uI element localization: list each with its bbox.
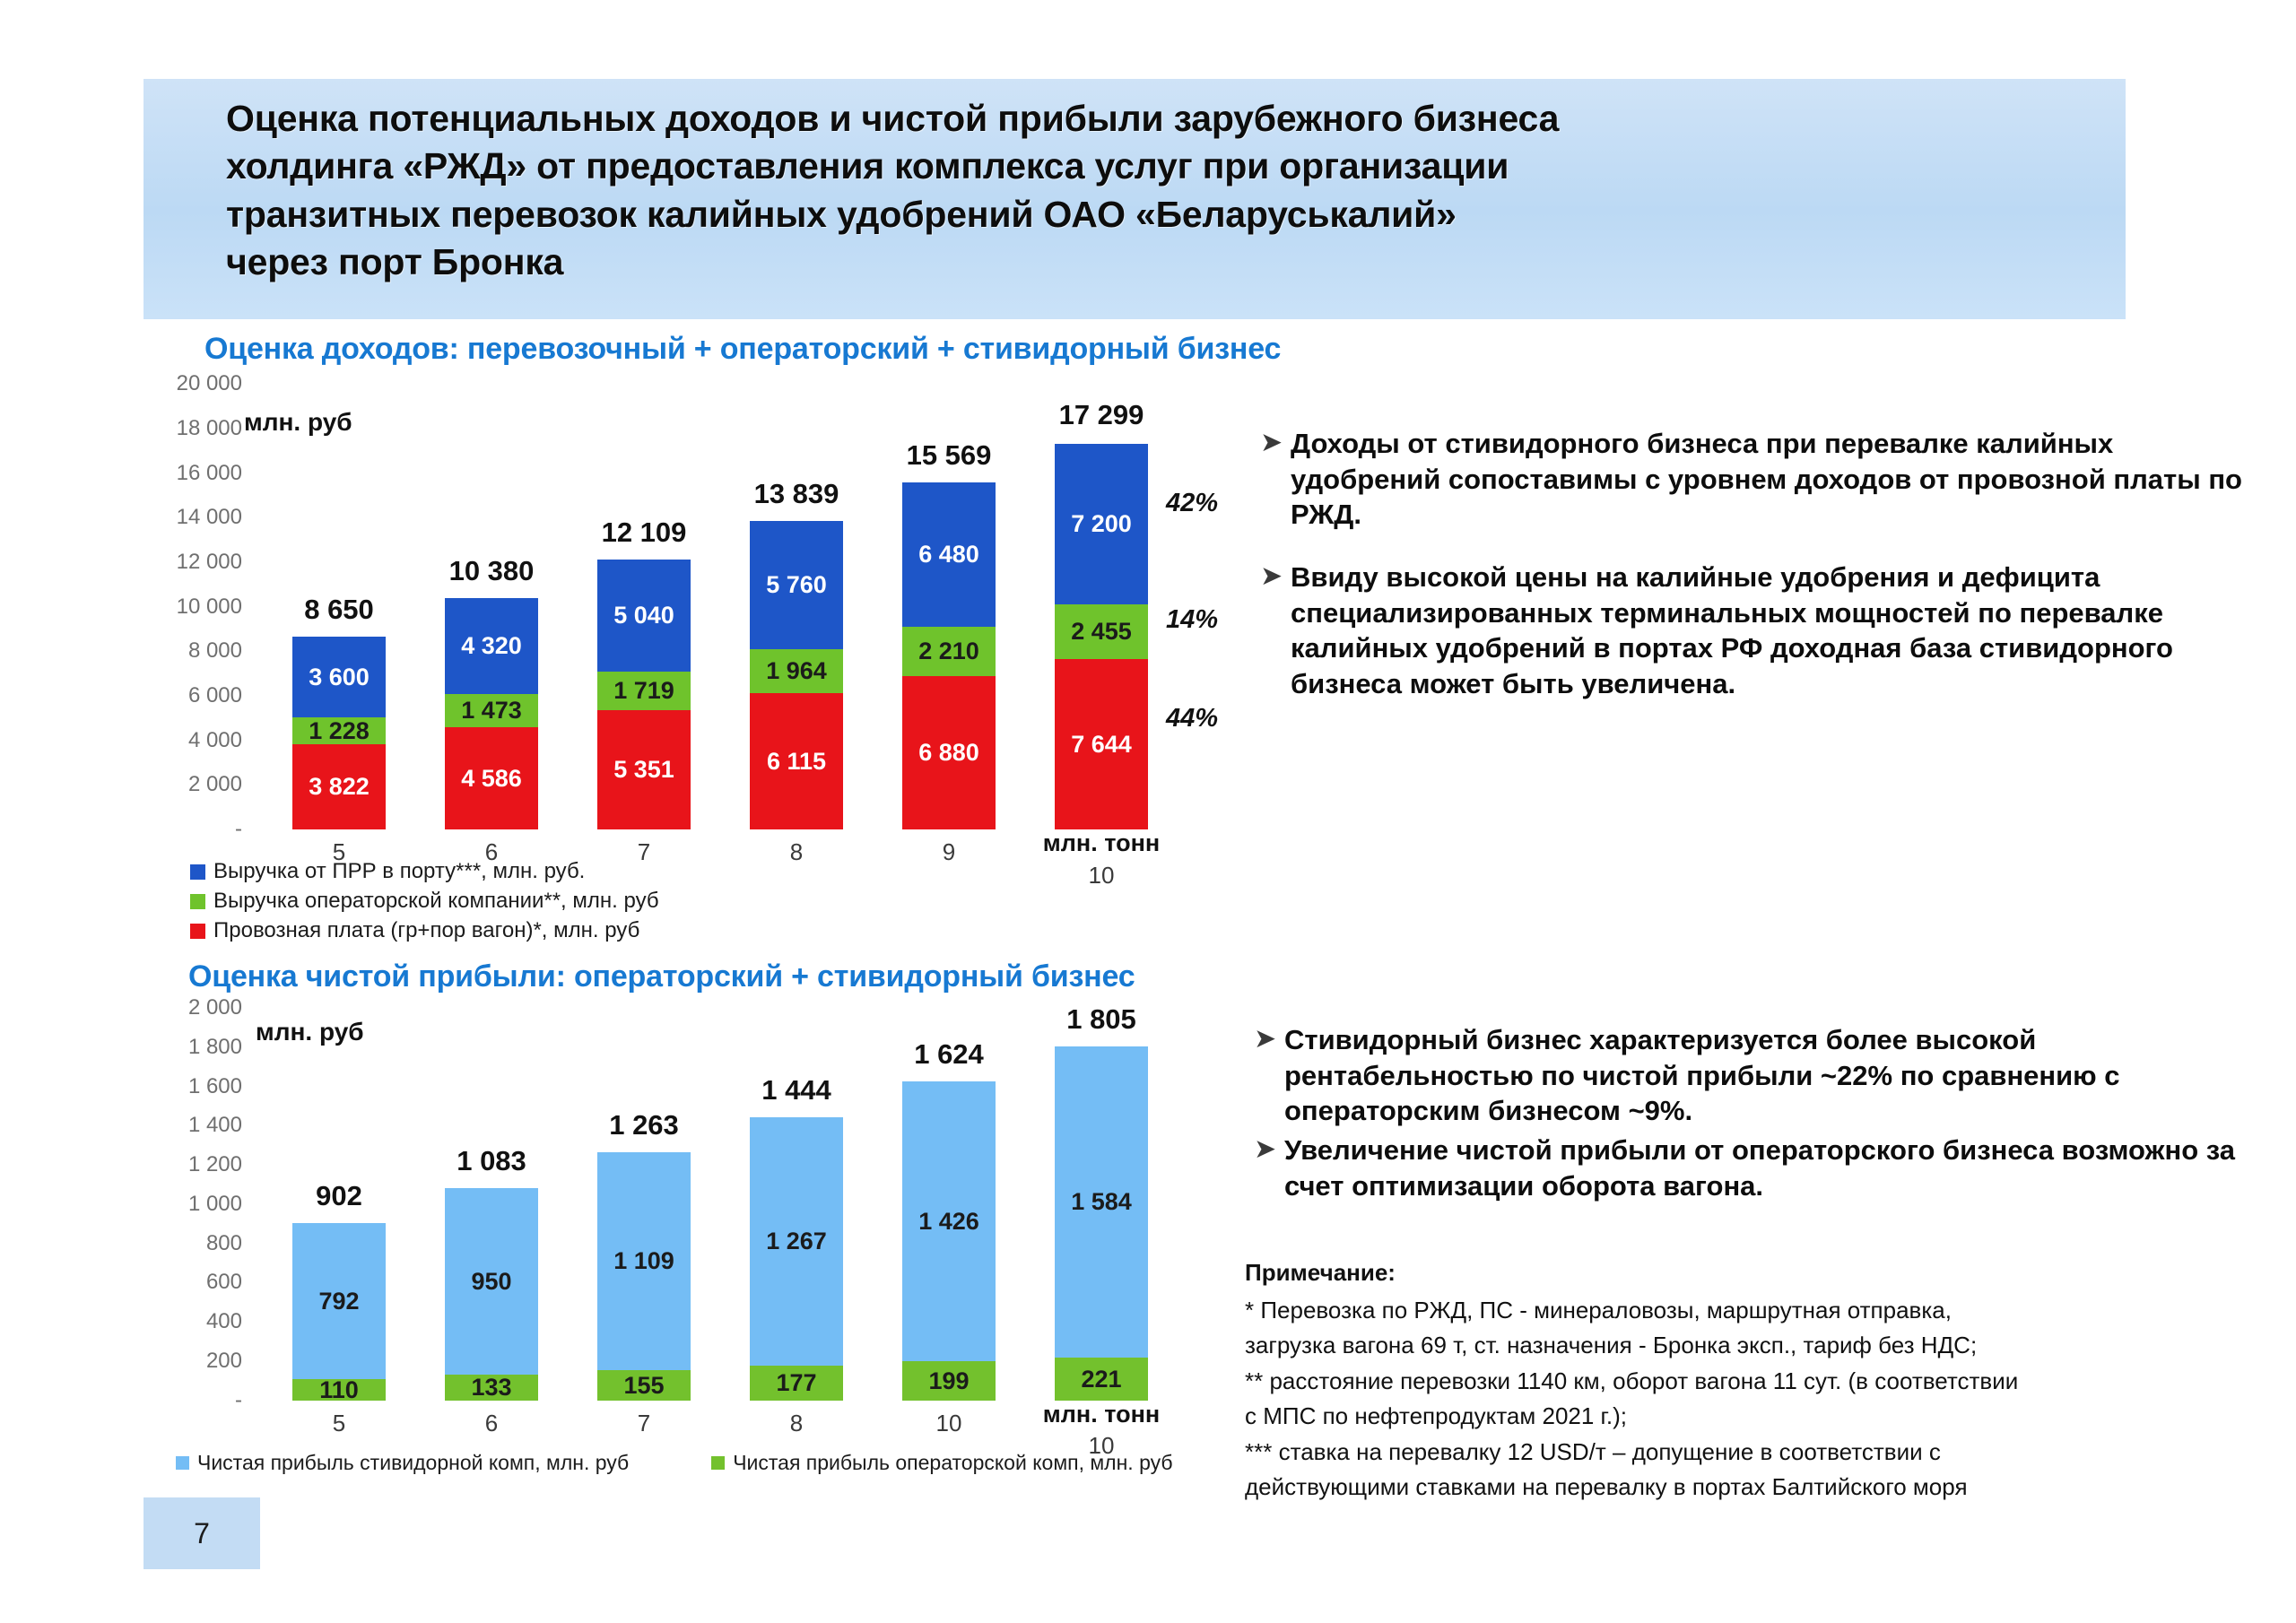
legend-label: Провозная плата (гр+пор вагон)*, млн. ру…	[213, 918, 639, 943]
x-tick-label: 10	[1089, 862, 1115, 890]
bar-group-6[interactable]: 10 380 4 320 1 473 4 586 6	[445, 598, 538, 829]
chart-profit-yaxis: 2 000 1 800 1 600 1 400 1 200 1 000 800 …	[135, 0, 242, 1453]
legend-label: Чистая прибыль операторской комп, млн. р…	[733, 1451, 1172, 1475]
ytick: 600	[206, 1270, 242, 1295]
legend-item-red[interactable]: Провозная плата (гр+пор вагон)*, млн. ру…	[190, 918, 659, 943]
bar-group-9[interactable]: 1 624 1 426 199 10	[902, 1081, 996, 1401]
chevron-right-icon: ➤	[1260, 560, 1291, 702]
bar-segment-green: 177	[750, 1366, 843, 1401]
page-number-badge: 7	[143, 1497, 260, 1569]
chart-revenue-plot: 8 650 3 600 1 228 3 822 5 10 380 4 320 1…	[269, 359, 1229, 829]
footnote-line: действующими ставками на перевалку в пор…	[1245, 1470, 2285, 1506]
legend-item-green[interactable]: Чистая прибыль операторской комп, млн. р…	[711, 1451, 1172, 1475]
x-tick-label: 7	[638, 1410, 650, 1437]
bar-group-9[interactable]: 15 569 6 480 2 210 6 880 9	[902, 482, 996, 829]
bar-segment-green: 1 719	[597, 672, 691, 710]
title-line-3: транзитных перевозок калийных удобрений …	[226, 191, 2108, 239]
x-tick-label: 8	[790, 1410, 803, 1437]
bar-total-label: 15 569	[907, 439, 992, 472]
bar-segment-red: 5 351	[597, 710, 691, 829]
footnote-line: ** расстояние перевозки 1140 км, оборот …	[1245, 1364, 2285, 1400]
bar-segment-red: 7 644	[1055, 659, 1148, 829]
legend-item-green[interactable]: Выручка операторской компании**, млн. ру…	[190, 889, 659, 914]
bar-segment-green: 2 455	[1055, 604, 1148, 659]
page-title: Оценка потенциальных доходов и чистой пр…	[226, 95, 2108, 286]
legend-label: Выручка операторской компании**, млн. ру…	[213, 889, 659, 914]
ytick: 200	[206, 1349, 242, 1374]
ytick: 800	[206, 1231, 242, 1256]
ytick: 1 800	[188, 1035, 242, 1060]
bar-total-label: 13 839	[754, 478, 839, 510]
bar-segment-green: 155	[597, 1370, 691, 1401]
ytick: -	[235, 1388, 242, 1413]
bar-segment-blue: 5 760	[750, 521, 843, 649]
bar-total-label: 1 083	[457, 1145, 526, 1177]
bar-segment-blue: 7 200	[1055, 444, 1148, 604]
bar-segment-blue: 5 040	[597, 560, 691, 672]
bullets-revenue: ➤ Доходы от стивидорного бизнеса при пер…	[1260, 426, 2256, 729]
bar-group-8[interactable]: 13 839 5 760 1 964 6 115 8	[750, 521, 843, 829]
bar-segment-green: 1 473	[445, 694, 538, 727]
bar-segment-green: 1 228	[292, 717, 386, 744]
chevron-right-icon: ➤	[1260, 426, 1291, 533]
share-red-label: 44%	[1166, 704, 1218, 733]
bar-segment-green: 221	[1055, 1358, 1148, 1401]
ytick: 400	[206, 1309, 242, 1334]
legend-label: Чистая прибыль стивидорной комп, млн. ру…	[197, 1451, 629, 1475]
chevron-right-icon: ➤	[1254, 1133, 1284, 1203]
chart-profit-plot: 902 792 110 5 1 083 950 133 6 1 263 1 10…	[269, 986, 1229, 1401]
title-line-1: Оценка потенциальных доходов и чистой пр…	[226, 95, 2108, 143]
title-line-4: через порт Бронка	[226, 239, 2108, 286]
bar-segment-blue: 6 480	[902, 482, 996, 627]
bar-segment-blue: 4 320	[445, 598, 538, 694]
bar-total-label: 10 380	[449, 555, 535, 587]
chart-profit-legend: Чистая прибыль стивидорной комп, млн. ру…	[176, 1451, 1173, 1475]
x-tick-label: 10	[936, 1410, 962, 1437]
bar-total-label: 902	[316, 1180, 362, 1212]
bullet-text: Увеличение чистой прибыли от операторско…	[1284, 1133, 2258, 1203]
x-tick-label: 5	[333, 1410, 345, 1437]
bar-group-7[interactable]: 1 263 1 109 155 7	[597, 1152, 691, 1401]
bullet-item: ➤ Увеличение чистой прибыли от операторс…	[1254, 1133, 2258, 1203]
legend-swatch-light-blue-icon	[176, 1456, 189, 1470]
bullet-item: ➤ Стивидорный бизнес характеризуется бол…	[1254, 1022, 2258, 1129]
chevron-right-icon: ➤	[1254, 1022, 1284, 1129]
x-tick-label: 6	[485, 1410, 498, 1437]
slide-root: Оценка потенциальных доходов и чистой пр…	[0, 0, 2296, 1623]
footnote-line: *** ставка на перевалку 12 USD/т – допущ…	[1245, 1435, 2285, 1471]
bar-group-10[interactable]: 17 299 7 200 2 455 7 644 млн. тонн 10	[1055, 444, 1148, 829]
bullet-text: Стивидорный бизнес характеризуется более…	[1284, 1022, 2258, 1129]
title-line-2: холдинга «РЖД» от предоставления комплек…	[226, 143, 2108, 190]
bar-segment-red: 4 586	[445, 727, 538, 829]
bar-segment-green: 2 210	[902, 627, 996, 676]
chart-revenue-legend: Выручка от ПРР в порту***, млн. руб. Выр…	[190, 859, 659, 948]
bar-segment-light-blue: 1 584	[1055, 1046, 1148, 1358]
bar-group-6[interactable]: 1 083 950 133 6	[445, 1188, 538, 1401]
footnote-line: с МПС по нефтепродуктам 2021 г.);	[1245, 1399, 2285, 1435]
bar-segment-light-blue: 1 267	[750, 1117, 843, 1366]
bullets-profit: ➤ Стивидорный бизнес характеризуется бол…	[1254, 1022, 2258, 1230]
x-axis-unit: млн. тонн	[1043, 1401, 1160, 1428]
x-axis-unit: млн. тонн	[1043, 829, 1160, 857]
footnote-heading: Примечание:	[1245, 1255, 2285, 1291]
bar-segment-red: 3 822	[292, 744, 386, 829]
bar-segment-red: 6 880	[902, 676, 996, 829]
x-tick-label: 9	[943, 838, 955, 866]
bar-segment-light-blue: 950	[445, 1188, 538, 1375]
bar-segment-light-blue: 792	[292, 1223, 386, 1379]
bar-group-5[interactable]: 902 792 110 5	[292, 1223, 386, 1401]
bar-group-10[interactable]: 1 805 1 584 221 млн. тонн 10	[1055, 1046, 1148, 1401]
footnote-line: загрузка вагона 69 т, ст. назначения - Б…	[1245, 1328, 2285, 1364]
bar-total-label: 1 444	[761, 1074, 831, 1107]
ytick: 1 400	[188, 1113, 242, 1138]
bar-segment-green: 1 964	[750, 649, 843, 693]
bar-segment-green: 199	[902, 1361, 996, 1401]
share-green-label: 14%	[1166, 605, 1218, 635]
bar-total-label: 1 263	[609, 1109, 679, 1141]
bar-segment-green: 133	[445, 1375, 538, 1401]
bar-total-label: 1 805	[1066, 1003, 1136, 1036]
footnote-block: Примечание: * Перевозка по РЖД, ПС - мин…	[1245, 1255, 2285, 1506]
ytick: 1 000	[188, 1192, 242, 1217]
legend-item-blue[interactable]: Выручка от ПРР в порту***, млн. руб.	[190, 859, 659, 884]
ytick: 1 600	[188, 1074, 242, 1099]
x-tick-label: 8	[790, 838, 803, 866]
legend-item-light-blue[interactable]: Чистая прибыль стивидорной комп, млн. ру…	[176, 1451, 629, 1475]
bullet-item: ➤ Ввиду высокой цены на калийные удобрен…	[1260, 560, 2256, 702]
footnote-line: * Перевозка по РЖД, ПС - минераловозы, м…	[1245, 1293, 2285, 1329]
bar-total-label: 8 650	[304, 594, 374, 626]
bar-total-label: 1 624	[914, 1038, 984, 1071]
bar-segment-green: 110	[292, 1379, 386, 1401]
legend-label: Выручка от ПРР в порту***, млн. руб.	[213, 859, 585, 884]
bullet-text: Ввиду высокой цены на калийные удобрения…	[1291, 560, 2256, 702]
page-number: 7	[194, 1517, 210, 1550]
bar-group-7[interactable]: 12 109 5 040 1 719 5 351 7	[597, 560, 691, 829]
ytick: 1 200	[188, 1152, 242, 1177]
bar-total-label: 12 109	[602, 516, 687, 549]
legend-swatch-green-icon	[711, 1456, 725, 1470]
bar-segment-blue: 3 600	[292, 637, 386, 717]
bar-group-5[interactable]: 8 650 3 600 1 228 3 822 5	[292, 637, 386, 829]
share-blue-label: 42%	[1166, 489, 1218, 518]
bullet-item: ➤ Доходы от стивидорного бизнеса при пер…	[1260, 426, 2256, 533]
ytick: 2 000	[188, 995, 242, 1020]
bar-segment-red: 6 115	[750, 693, 843, 829]
bar-segment-light-blue: 1 109	[597, 1152, 691, 1370]
bar-segment-light-blue: 1 426	[902, 1081, 996, 1361]
bar-total-label: 17 299	[1059, 399, 1144, 431]
bar-group-8[interactable]: 1 444 1 267 177 8	[750, 1117, 843, 1401]
title-banner: Оценка потенциальных доходов и чистой пр…	[143, 79, 2126, 319]
bullet-text: Доходы от стивидорного бизнеса при перев…	[1291, 426, 2256, 533]
